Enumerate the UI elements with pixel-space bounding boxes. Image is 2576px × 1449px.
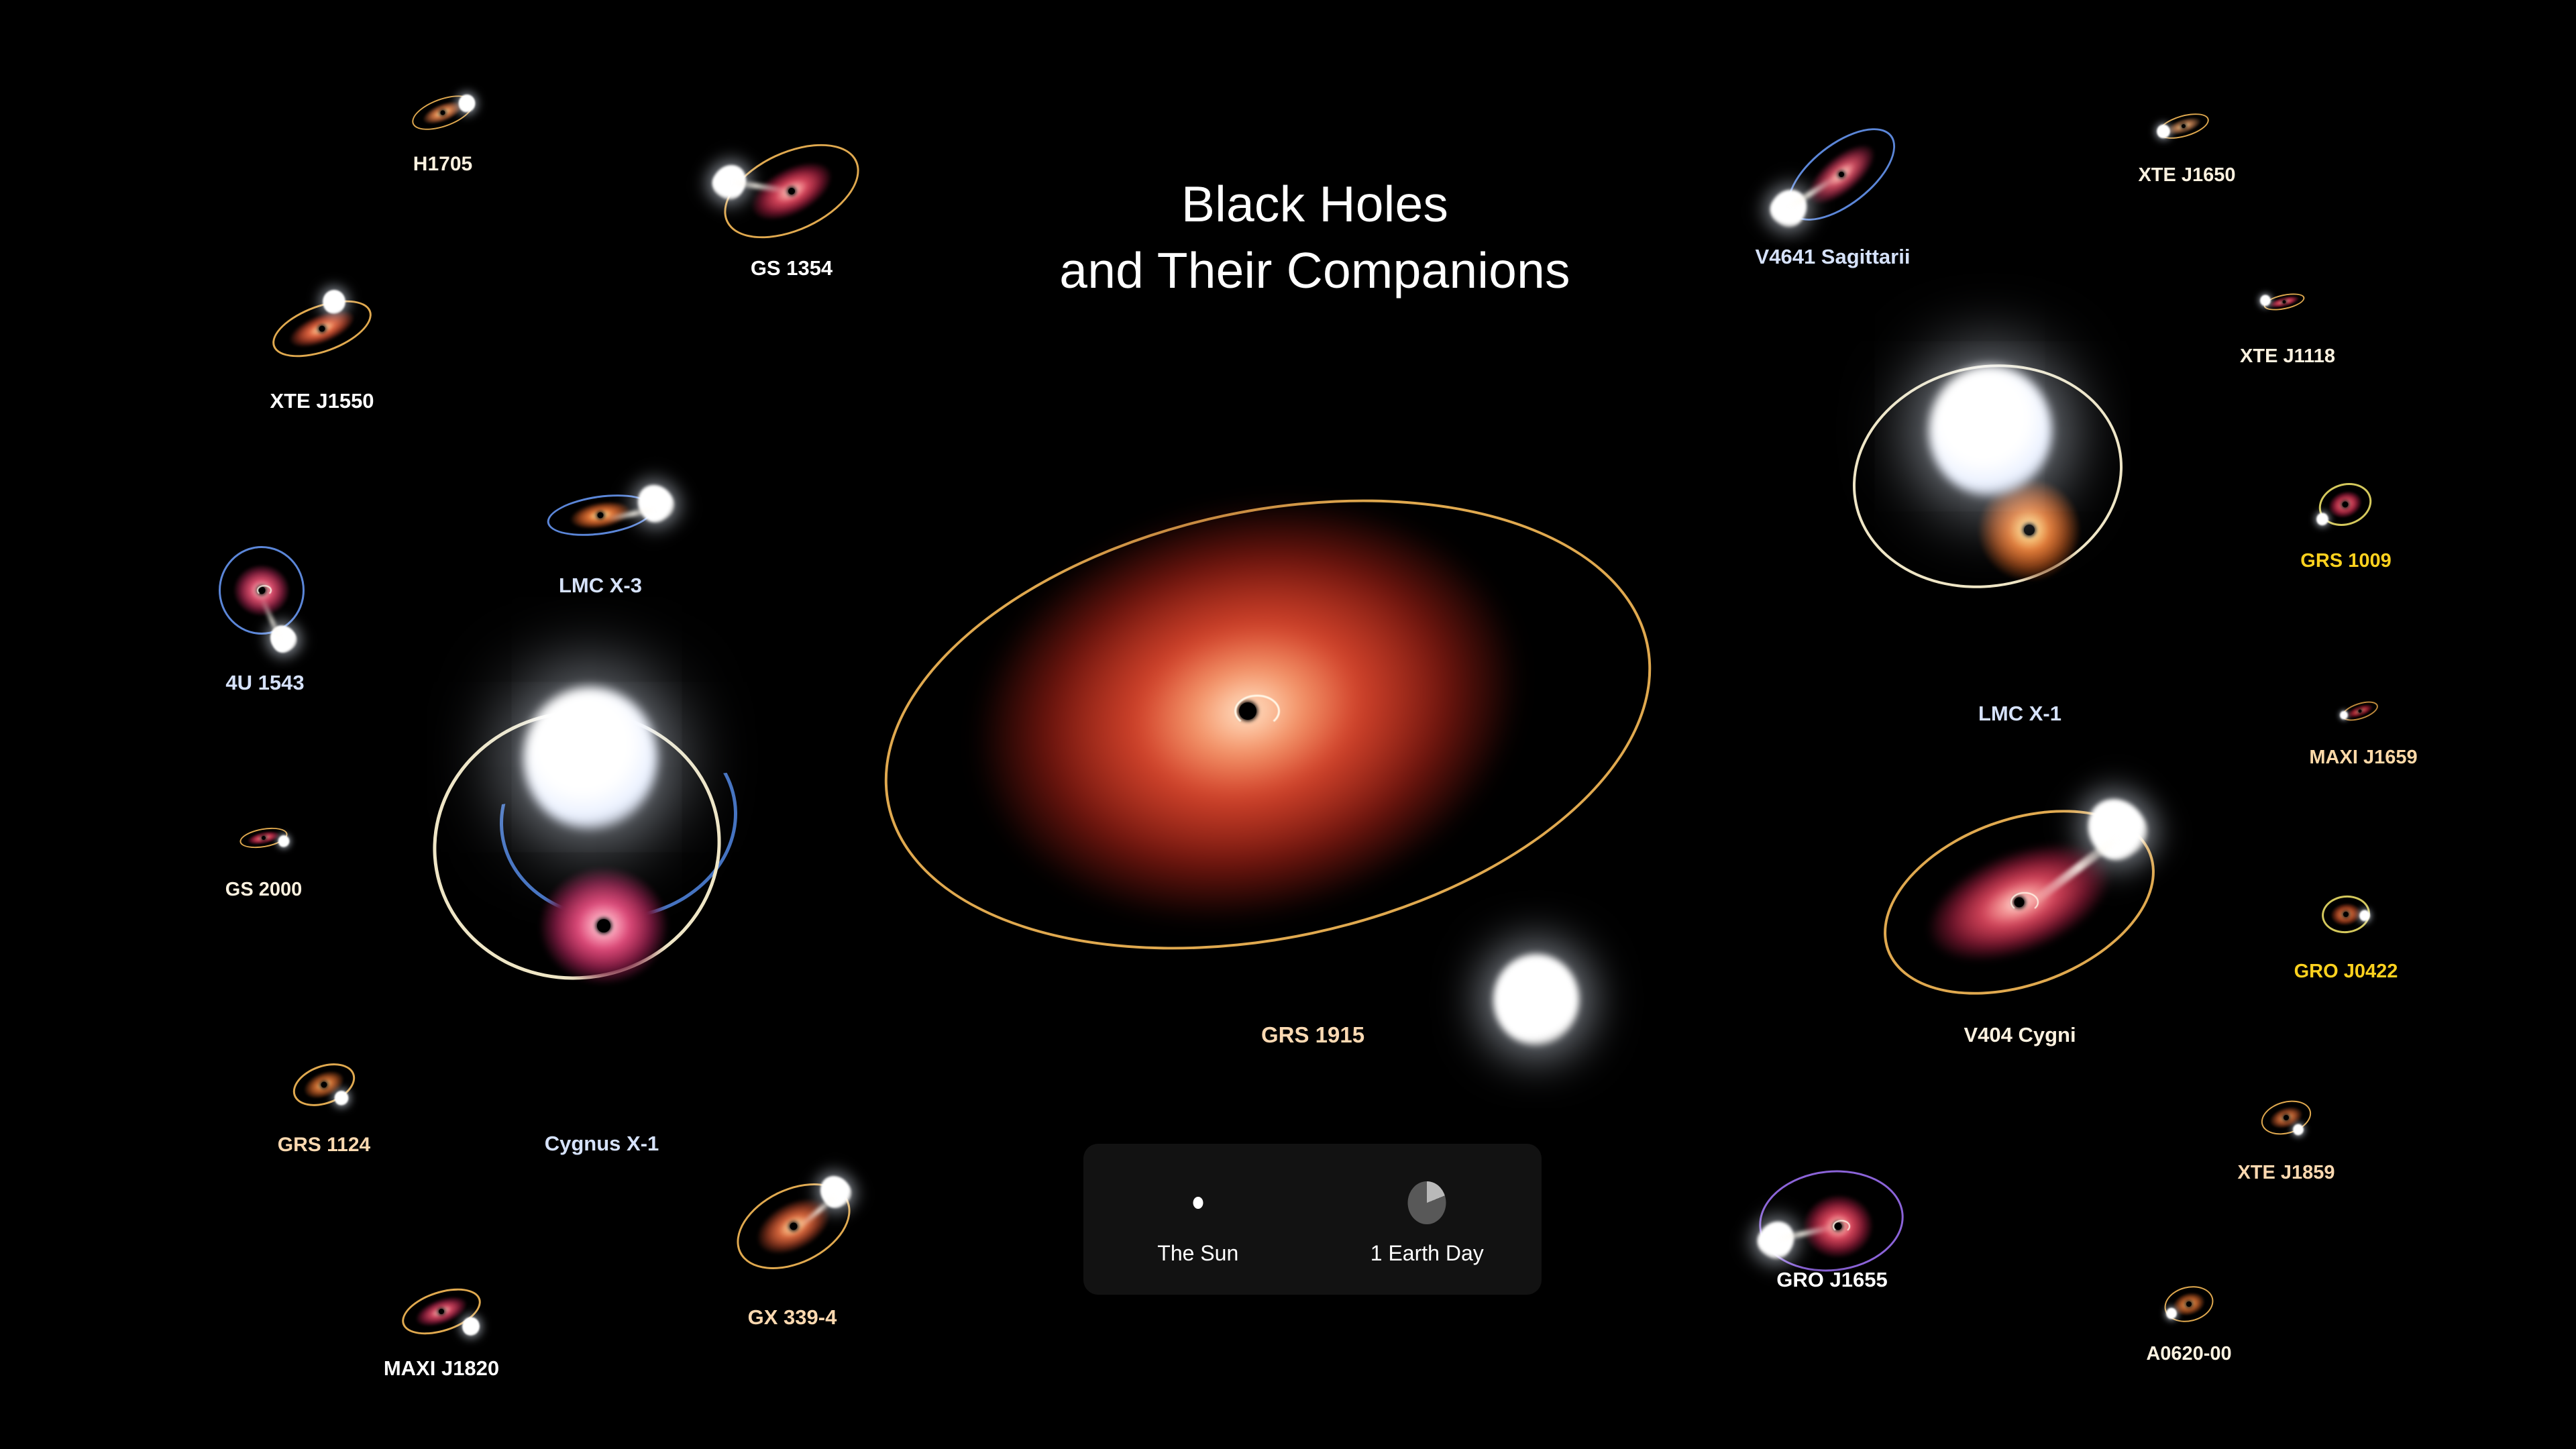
system-label-v404-cygni: V404 Cygni: [1964, 1023, 2076, 1047]
black-hole-gx-339-4: [790, 1223, 798, 1230]
sun-dot-icon: [1193, 1197, 1203, 1209]
companion-star-cygnus-x-1: [523, 687, 657, 829]
photon-ring-4u-1543: [257, 585, 272, 596]
black-hole-cygnus-x-1: [597, 919, 610, 932]
system-label-a0620-00: A0620-00: [2146, 1343, 2231, 1365]
black-hole-maxi-j1659: [2359, 710, 2362, 713]
black-hole-lmc-x-1: [2024, 525, 2035, 535]
system-label-lmc-x-1: LMC X-1: [1978, 702, 2061, 726]
legend-item-earth-day: 1 Earth Day: [1313, 1144, 1542, 1295]
black-hole-xte-j1118: [2283, 301, 2286, 304]
black-hole-a0620-00: [2186, 1301, 2192, 1307]
system-label-gro-j0422: GRO J0422: [2294, 961, 2398, 983]
scale-legend: The Sun 1 Earth Day: [1083, 1144, 1542, 1295]
black-hole-maxi-j1820: [439, 1309, 444, 1314]
black-hole-grs-1009: [2343, 502, 2349, 508]
companion-star-grs-1009: [2316, 513, 2328, 525]
system-label-grs-1124: GRS 1124: [278, 1134, 370, 1157]
system-label-lmc-x-3: LMC X-3: [559, 574, 642, 598]
companion-star-h1705: [459, 95, 476, 113]
companion-star-maxi-j1659: [2340, 711, 2348, 720]
companion-star-xte-j1650: [2157, 124, 2170, 138]
companion-star-gro-j0422: [2359, 910, 2370, 922]
companion-star-grs-1915: [1493, 954, 1579, 1045]
black-hole-gro-j0422: [2343, 912, 2349, 917]
companion-star-grs-1124: [335, 1091, 349, 1106]
companion-star-a0620-00: [2166, 1308, 2177, 1320]
companion-star-xte-j1118: [2260, 295, 2271, 307]
photon-ring-gro-j1655: [1833, 1220, 1850, 1233]
page-title: Black Holes and Their Companions: [1033, 171, 1597, 304]
system-label-xte-j1859: XTE J1859: [2237, 1162, 2334, 1184]
system-label-gx-339-4: GX 339-4: [748, 1305, 837, 1330]
system-label-gs-2000: GS 2000: [225, 879, 302, 901]
black-hole-grs-1124: [321, 1082, 327, 1088]
system-label-4u-1543: 4U 1543: [225, 671, 304, 695]
legend-item-sun: The Sun: [1083, 1144, 1313, 1295]
companion-star-gs-2000: [278, 835, 290, 847]
legend-label-sun: The Sun: [1157, 1241, 1238, 1266]
system-label-xte-j1650: XTE J1650: [2138, 164, 2235, 186]
system-label-cygnus-x-1: Cygnus X-1: [545, 1132, 659, 1156]
photon-ring-grs-1915: [1234, 695, 1280, 728]
system-label-h1705: H1705: [413, 153, 472, 176]
system-label-v4641-sagittarii: V4641 Sagittarii: [1756, 245, 1911, 269]
system-label-xte-j1118: XTE J1118: [2240, 345, 2335, 368]
companion-star-maxi-j1820: [462, 1317, 480, 1336]
black-hole-h1705: [441, 111, 445, 115]
system-label-maxi-j1820: MAXI J1820: [384, 1356, 499, 1381]
black-hole-xte-j1550: [319, 326, 325, 332]
system-label-xte-j1550: XTE J1550: [270, 389, 374, 413]
system-label-grs-1915: GRS 1915: [1261, 1022, 1364, 1048]
black-hole-xte-j1650: [2182, 124, 2186, 128]
companion-star-xte-j1859: [2293, 1124, 2304, 1136]
companion-star-lmc-x-1: [1929, 365, 2052, 496]
black-hole-gs-2000: [262, 836, 266, 840]
black-hole-lmc-x-3: [598, 513, 604, 519]
system-label-grs-1009: GRS 1009: [2300, 550, 2391, 572]
black-hole-v4641-sagittarii: [1839, 172, 1844, 177]
system-label-gs-1354: GS 1354: [751, 256, 833, 280]
starfield-canvas: Black Holes and Their Companions H1705GS…: [0, 0, 2576, 1449]
companion-star-xte-j1550: [323, 290, 345, 314]
pie-clock-icon: [1408, 1181, 1446, 1224]
black-hole-xte-j1859: [2284, 1115, 2289, 1120]
black-hole-gs-1354: [788, 188, 795, 195]
system-label-gro-j1655: GRO J1655: [1776, 1268, 1887, 1292]
system-label-maxi-j1659: MAXI J1659: [2309, 747, 2417, 769]
legend-label-earth-day: 1 Earth Day: [1371, 1241, 1484, 1266]
